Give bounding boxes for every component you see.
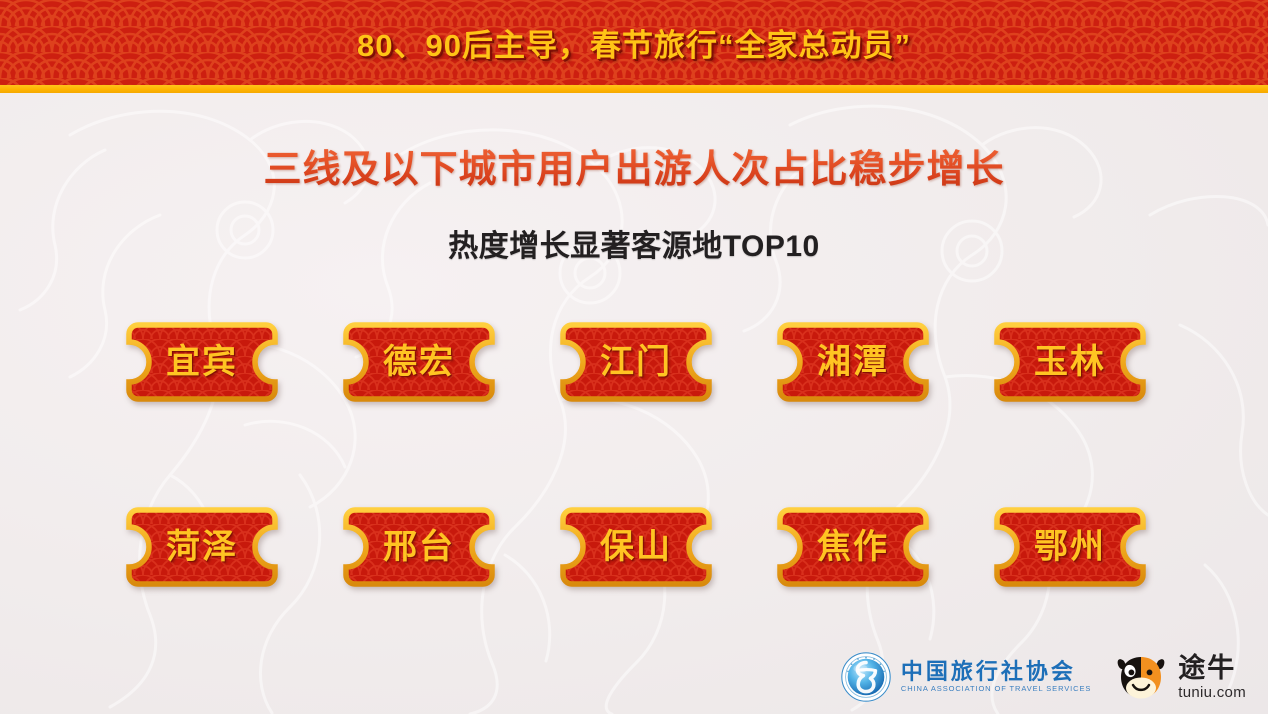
city-badge-jiaozuo[interactable]: 焦作 bbox=[777, 507, 929, 587]
city-badge-yibin[interactable]: 宜宾 bbox=[126, 322, 278, 402]
city-badge-label: 菏泽 bbox=[166, 530, 238, 564]
city-badge-grid: 宜宾 德宏 江门 湘潭 bbox=[126, 322, 1146, 587]
globe-emblem-icon bbox=[840, 651, 892, 703]
city-badge-label: 玉林 bbox=[1034, 345, 1106, 379]
tuniu-logo-name-cn: 途牛 bbox=[1178, 655, 1246, 682]
logo-tuniu: 途牛 tuniu.com bbox=[1113, 650, 1246, 704]
city-badge-label: 邢台 bbox=[383, 530, 455, 564]
city-badge-baoshan[interactable]: 保山 bbox=[560, 507, 712, 587]
cats-logo-name-cn: 中国旅行社协会 bbox=[901, 661, 1091, 683]
city-badge-label: 焦作 bbox=[817, 530, 889, 564]
logo-china-association-of-travel-services: 中国旅行社协会 CHINA ASSOCIATION OF TRAVEL SERV… bbox=[840, 651, 1091, 703]
slide-canvas: 80、90后主导，春节旅行“全家总动员” 三线及以下城市用户出游人次占比稳步增长… bbox=[0, 0, 1268, 714]
city-badge-label: 鄂州 bbox=[1034, 530, 1106, 564]
city-badge-jiangmen[interactable]: 江门 bbox=[560, 322, 712, 402]
city-badge-row-1: 宜宾 德宏 江门 湘潭 bbox=[126, 322, 1146, 402]
city-badge-heze[interactable]: 菏泽 bbox=[126, 507, 278, 587]
city-badge-dehong[interactable]: 德宏 bbox=[343, 322, 495, 402]
city-badge-label: 江门 bbox=[600, 345, 672, 379]
page-subtitle: 热度增长显著客源地TOP10 bbox=[0, 221, 1268, 265]
cow-mascot-icon bbox=[1113, 650, 1169, 704]
city-badge-label: 湘潭 bbox=[817, 345, 889, 379]
city-badge-yulin[interactable]: 玉林 bbox=[994, 322, 1146, 402]
city-badge-ezhou[interactable]: 鄂州 bbox=[994, 507, 1146, 587]
city-badge-row-2: 菏泽 邢台 保山 焦作 bbox=[126, 507, 1146, 587]
page-title: 三线及以下城市用户出游人次占比稳步增长 bbox=[0, 138, 1268, 193]
tuniu-logo-name-en: tuniu.com bbox=[1178, 685, 1246, 700]
city-badge-xiangtan[interactable]: 湘潭 bbox=[777, 322, 929, 402]
cats-logo-name-en: CHINA ASSOCIATION OF TRAVEL SERVICES bbox=[901, 685, 1091, 693]
header-gold-rule bbox=[0, 85, 1268, 93]
city-badge-label: 德宏 bbox=[383, 345, 455, 379]
city-badge-xingtai[interactable]: 邢台 bbox=[343, 507, 495, 587]
header-banner: 80、90后主导，春节旅行“全家总动员” bbox=[0, 0, 1268, 85]
footer-logos: 中国旅行社协会 CHINA ASSOCIATION OF TRAVEL SERV… bbox=[840, 650, 1246, 704]
city-badge-label: 宜宾 bbox=[166, 345, 238, 379]
city-badge-label: 保山 bbox=[600, 530, 672, 564]
header-title: 80、90后主导，春节旅行“全家总动员” bbox=[0, 0, 1268, 85]
